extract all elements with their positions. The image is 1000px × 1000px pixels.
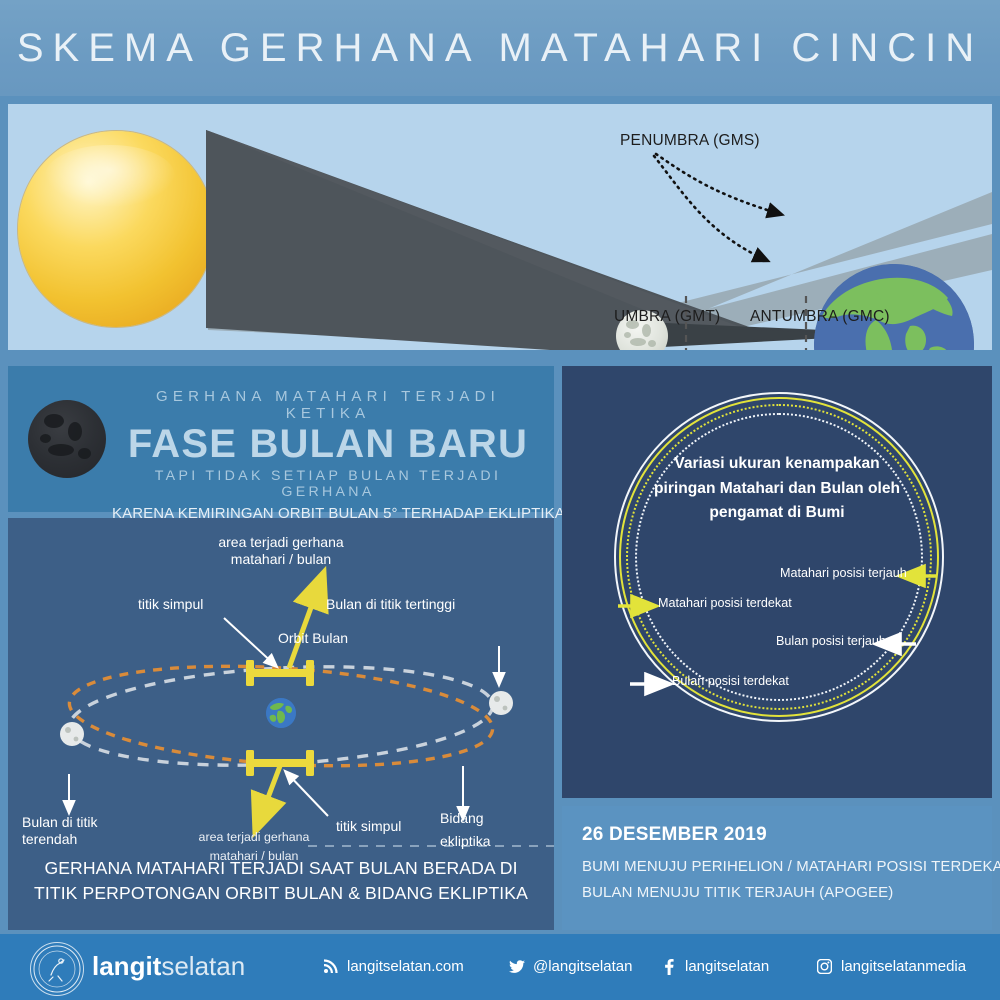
rss-icon xyxy=(322,958,339,975)
banner-line-2: FASE BULAN BARU xyxy=(112,423,544,465)
label-ecliptic-plane: Bidang ekliptika xyxy=(440,810,530,850)
label-eclipse-area-top: area terjadi gerhana matahari / bulan xyxy=(186,534,376,568)
circles-leader-arrows xyxy=(562,366,992,798)
footer-facebook[interactable]: langitselatan xyxy=(660,958,769,975)
eclipse-geometry-panel: PENUMBRA (GMS) UMBRA (GMT) ANTUMBRA (GMC… xyxy=(8,104,992,350)
earth-small-icon xyxy=(266,698,296,728)
date-detail-1: BUMI MENUJU PERIHELION / MATAHARI POSISI… xyxy=(582,858,1000,875)
label-sun-nearest: Matahari posisi terdekat xyxy=(658,596,792,610)
brand-light: selatan xyxy=(161,951,245,981)
footer-bar: langitselatan langitselatan.com @langits… xyxy=(0,934,1000,1000)
brand-bold: langit xyxy=(92,951,161,981)
langitselatan-emblem-icon xyxy=(30,942,84,996)
date-detail-2: BULAN MENUJU TITIK TERJAUH (APOGEE) xyxy=(582,884,893,901)
footer-twitter[interactable]: @langitselatan xyxy=(508,958,632,975)
new-moon-icon xyxy=(28,400,106,478)
node-marker-top xyxy=(246,660,314,686)
date-info-box: 26 DESEMBER 2019 BUMI MENUJU PERIHELION … xyxy=(562,806,992,930)
orbit-caption: GERHANA MATAHARI TERJADI SAAT BULAN BERA… xyxy=(8,856,554,906)
orbit-node-panel: area terjadi gerhana matahari / bulan ti… xyxy=(8,518,554,930)
footer-instagram-label: langitselatanmedia xyxy=(841,958,966,975)
footer-website-label: langitselatan.com xyxy=(347,958,464,975)
footer-twitter-label: @langitselatan xyxy=(533,958,632,975)
infographic-root: SKEMA GERHANA MATAHARI CINCIN xyxy=(0,0,1000,1000)
header-bar: SKEMA GERHANA MATAHARI CINCIN xyxy=(0,0,1000,96)
label-moon-farthest: Bulan posisi terjauh xyxy=(776,634,886,648)
apparent-size-panel: Variasi ukuran kenampakan piringan Matah… xyxy=(562,366,992,798)
instagram-icon xyxy=(816,958,833,975)
banner-text-block: GERHANA MATAHARI TERJADI KETIKA FASE BUL… xyxy=(112,388,544,522)
new-moon-banner: GERHANA MATAHARI TERJADI KETIKA FASE BUL… xyxy=(8,366,554,512)
label-moon-lowest: Bulan di titik terendah xyxy=(22,814,132,848)
eclipse-date: 26 DESEMBER 2019 xyxy=(582,824,767,846)
footer-instagram[interactable]: langitselatanmedia xyxy=(816,958,966,975)
label-penumbra: PENUMBRA (GMS) xyxy=(620,132,760,150)
banner-line-1: GERHANA MATAHARI TERJADI KETIKA xyxy=(112,388,544,422)
label-node-top: titik simpul xyxy=(138,596,203,613)
label-moon-highest: Bulan di titik tertinggi xyxy=(326,596,455,613)
facebook-icon xyxy=(660,958,677,975)
brand-logotype: langitselatan xyxy=(92,951,245,982)
banner-line-3: TAPI TIDAK SETIAP BULAN TERJADI GERHANA xyxy=(112,468,544,500)
footer-facebook-label: langitselatan xyxy=(685,958,769,975)
label-moon-orbit: Orbit Bulan xyxy=(278,630,348,647)
twitter-icon xyxy=(508,958,525,975)
footer-website[interactable]: langitselatan.com xyxy=(322,958,464,975)
page-title: SKEMA GERHANA MATAHARI CINCIN xyxy=(17,26,983,71)
label-moon-nearest: Bulan posisi terdekat xyxy=(672,674,789,688)
label-umbra: UMBRA (GMT) xyxy=(614,308,720,326)
label-sun-farthest: Matahari posisi terjauh xyxy=(780,566,907,580)
label-antumbra: ANTUMBRA (GMC) xyxy=(750,308,890,326)
label-node-bottom: titik simpul xyxy=(336,818,401,835)
